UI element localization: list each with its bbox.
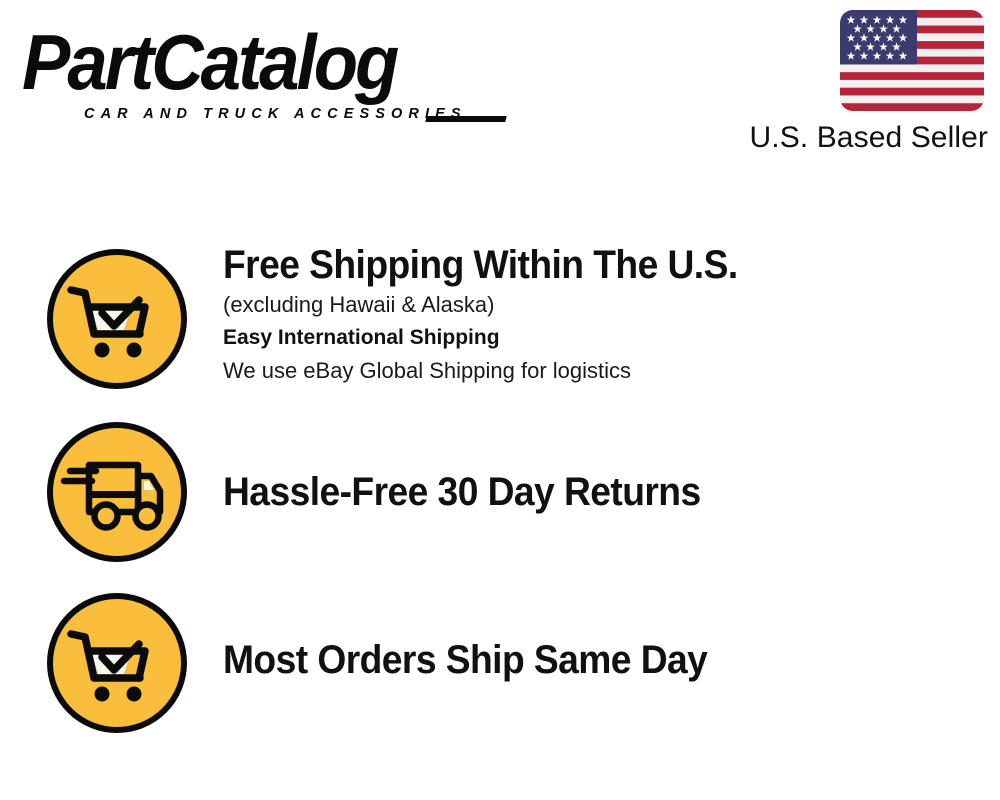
feature-text-block: Free Shipping Within The U.S. (excluding…	[223, 241, 983, 387]
feature-subtext-secondary: We use eBay Global Shipping for logistic…	[223, 355, 983, 387]
feature-subtext-strong: Easy International Shipping	[223, 321, 983, 355]
feature-heading: Hassle-Free 30 Day Returns	[223, 468, 930, 516]
feature-heading: Free Shipping Within The U.S.	[223, 241, 930, 289]
promo-banner: PartCatalog CAR AND TRUCK ACCESSORIES	[0, 0, 1000, 800]
brand-wordmark: PartCatalog	[22, 16, 396, 108]
delivery-truck-icon	[44, 419, 190, 565]
feature-heading: Most Orders Ship Same Day	[223, 636, 930, 684]
feature-subtext: (excluding Hawaii & Alaska)	[223, 289, 983, 321]
brand-underline-flourish	[425, 116, 506, 122]
shopping-cart-check-icon	[44, 246, 190, 392]
us-flag-icon	[840, 10, 984, 111]
us-based-seller-label: U.S. Based Seller	[726, 119, 988, 157]
brand-tagline: CAR AND TRUCK ACCESSORIES	[84, 106, 467, 122]
brand-logo: PartCatalog CAR AND TRUCK ACCESSORIES	[22, 16, 492, 120]
shopping-cart-check-icon	[44, 590, 190, 736]
feature-text-block: Most Orders Ship Same Day	[223, 636, 983, 684]
feature-text-block: Hassle-Free 30 Day Returns	[223, 468, 983, 516]
